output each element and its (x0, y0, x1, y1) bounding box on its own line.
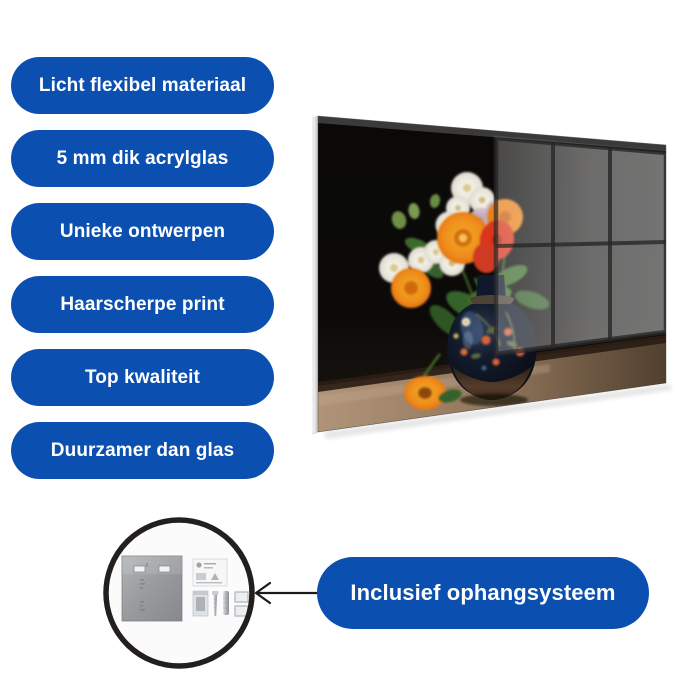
window-reflection (496, 138, 666, 354)
instruction-sheet (193, 559, 227, 586)
feature-pill-haarscherpe-print[interactable]: Haarscherpe print (11, 276, 274, 333)
panel-edge-thickness (313, 116, 318, 434)
feature-pill-5-mm-dik-acrylglas[interactable]: 5 mm dik acrylglas (11, 130, 274, 187)
mounting-kit-circle (101, 515, 257, 671)
feature-pill-label: Top kwaliteit (85, 368, 200, 387)
product-feature-graphic: Licht flexibel materiaal 5 mm dik acrylg… (0, 0, 700, 700)
arrow-left-icon (248, 572, 328, 614)
feature-pill-licht-flexibel-materiaal[interactable]: Licht flexibel materiaal (11, 57, 274, 114)
wall-plug (223, 591, 229, 615)
callout-pill-label: Inclusief ophangsysteem (350, 582, 615, 604)
feature-pill-label: Haarscherpe print (60, 295, 224, 314)
feature-pill-label: Duurzamer dan glas (51, 441, 234, 460)
feature-pill-top-kwaliteit[interactable]: Top kwaliteit (11, 349, 274, 406)
feature-pill-label: Unieke ontwerpen (60, 222, 225, 241)
screw-packet (193, 591, 208, 616)
feature-pill-duurzamer-dan-glas[interactable]: Duurzamer dan glas (11, 422, 274, 479)
callout-pill-inclusief-ophangsysteem[interactable]: Inclusief ophangsysteem (317, 557, 649, 629)
mounting-plate (122, 556, 182, 621)
acrylic-print-panel (300, 100, 680, 450)
feature-pill-label: 5 mm dik acrylglas (57, 149, 229, 168)
feature-pill-label: Licht flexibel materiaal (39, 76, 246, 95)
feature-pill-unieke-ontwerpen[interactable]: Unieke ontwerpen (11, 203, 274, 260)
